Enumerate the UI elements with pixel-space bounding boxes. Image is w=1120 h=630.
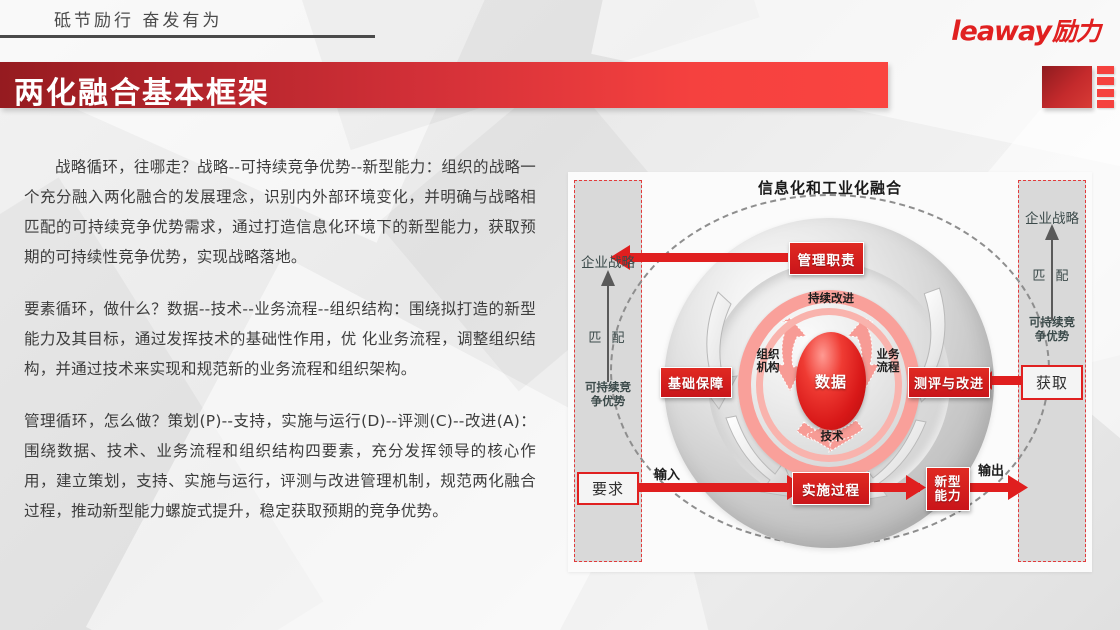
logo-text-cn: 励力 [1052,17,1100,46]
element-label-top: 持续改进 [783,292,879,305]
title-decoration-bars [1097,66,1114,108]
paragraph-management-cycle: 管理循环，怎么做？策划(P)--支持，实施与运行(D)--评测(C)--改进(A… [24,406,536,526]
logo-text-en: leaway [951,16,1051,47]
paragraph-strategy-cycle: 战略循环，往哪走？战略--可持续竞争优势--新型能力：组织的战略一个充分融入两化… [24,152,536,272]
left-column-strategy-label: 企业战略 [574,251,642,271]
element-label-right: 业务 流程 [868,348,908,374]
framework-diagram: 信息化和工业化融合 持续改进 组织 机构 业务 流程 技术 [568,172,1092,572]
flow-label-output: 输出 [978,460,1004,479]
right-column-advantage-label: 可持续竞 争优势 [1018,315,1086,343]
title-decoration-square [1042,66,1092,108]
right-column-strategy-label: 企业战略 [1018,207,1086,227]
box-implementation-process[interactable]: 实施过程 [792,472,870,505]
company-logo: leaway励力 [951,12,1100,48]
paragraph-element-cycle: 要素循环，做什么？数据--技术--业务流程--组织结构：围绕拟打造的新型能力及其… [24,294,536,384]
slide-title-band: 两化融合基本框架 [0,62,888,108]
box-acquire[interactable]: 获取 [1021,365,1083,400]
box-basic-support[interactable]: 基础保障 [660,367,732,398]
core-data-circle: 数据 [796,332,866,430]
element-label-left: 组织 机构 [748,348,788,374]
element-label-bottom: 技术 [792,430,872,443]
box-new-capability[interactable]: 新型 能力 [926,467,970,511]
box-evaluation-improvement[interactable]: 测评与改进 [908,367,990,398]
flow-label-input: 输入 [654,464,680,483]
header-divider [0,35,375,38]
page-title: 两化融合基本框架 [14,68,270,112]
left-column-advantage-label: 可持续竞 争优势 [574,380,642,408]
right-column-match-label: 匹 配 [1018,265,1086,284]
body-text-column: 战略循环，往哪走？战略--可持续竞争优势--新型能力：组织的战略一个充分融入两化… [24,152,536,548]
left-column-match-label: 匹 配 [574,327,642,346]
box-management-responsibility[interactable]: 管理职责 [789,242,864,275]
box-requirement[interactable]: 要求 [577,472,639,505]
core-data-label: 数据 [815,371,847,392]
header-motto: 砥节励行 奋发有为 [54,6,222,31]
